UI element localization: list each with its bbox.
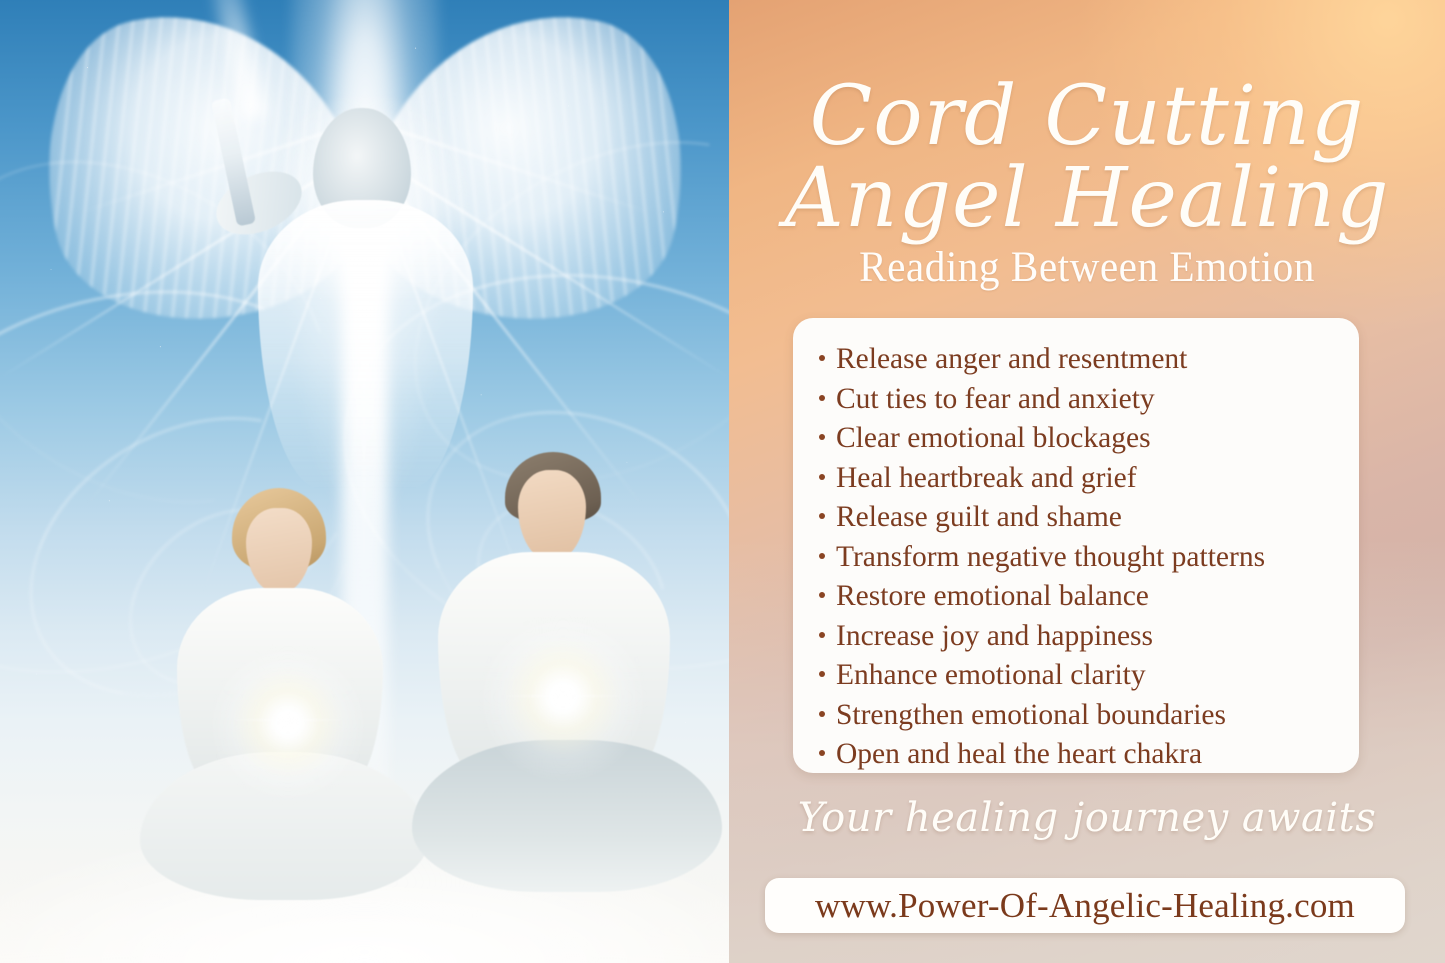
list-item: Increase joy and happiness xyxy=(819,617,1333,657)
list-item: Heal heartbreak and grief xyxy=(819,459,1333,499)
benefit-text: Open and heal the heart chakra xyxy=(836,735,1202,775)
list-item: Restore emotional balance xyxy=(819,577,1333,617)
website-url-bar[interactable]: www.Power-Of-Angelic-Healing.com xyxy=(765,878,1405,933)
promotional-flyer: Cord Cutting Angel Healing Reading Betwe… xyxy=(0,0,1445,963)
list-item: Strengthen emotional boundaries xyxy=(819,696,1333,736)
benefit-text: Transform negative thought patterns xyxy=(836,538,1265,578)
list-item: Release guilt and shame xyxy=(819,498,1333,538)
page-title: Cord Cutting Angel Healing xyxy=(729,77,1445,240)
heart-chakra-light xyxy=(198,706,378,734)
bullet-dot-icon xyxy=(819,513,825,519)
list-item: Enhance emotional clarity xyxy=(819,656,1333,696)
list-item: Cut ties to fear and anxiety xyxy=(819,380,1333,420)
angel-artwork-panel xyxy=(0,0,729,963)
benefit-text: Strengthen emotional boundaries xyxy=(836,696,1226,736)
bullet-dot-icon xyxy=(819,474,825,480)
benefit-text: Cut ties to fear and anxiety xyxy=(836,380,1155,420)
bullet-dot-icon xyxy=(819,553,825,559)
bullet-dot-icon xyxy=(819,434,825,440)
bullet-dot-icon xyxy=(819,711,825,717)
list-item: Open and heal the heart chakra xyxy=(819,735,1333,775)
list-item: Clear emotional blockages xyxy=(819,419,1333,459)
benefit-text: Release guilt and shame xyxy=(836,498,1122,538)
benefits-card: Release anger and resentment Cut ties to… xyxy=(793,318,1359,773)
tagline: Your healing journey awaits xyxy=(729,795,1445,841)
benefit-text: Release anger and resentment xyxy=(836,340,1187,380)
benefit-text: Enhance emotional clarity xyxy=(836,656,1146,696)
benefit-text: Clear emotional blockages xyxy=(836,419,1151,459)
bullet-dot-icon xyxy=(819,632,825,638)
bullet-dot-icon xyxy=(819,750,825,756)
bullet-dot-icon xyxy=(819,395,825,401)
bullet-dot-icon xyxy=(819,592,825,598)
title-line-2: Angel Healing xyxy=(729,159,1445,239)
benefit-text: Heal heartbreak and grief xyxy=(836,459,1137,499)
bullet-dot-icon xyxy=(819,355,825,361)
benefit-text: Restore emotional balance xyxy=(836,577,1149,617)
page-subtitle: Reading Between Emotion xyxy=(743,243,1430,292)
website-url-text[interactable]: www.Power-Of-Angelic-Healing.com xyxy=(815,886,1355,926)
list-item: Transform negative thought patterns xyxy=(819,538,1333,578)
benefits-list: Release anger and resentment Cut ties to… xyxy=(819,340,1333,775)
title-line-1: Cord Cutting xyxy=(729,77,1445,157)
info-panel: Cord Cutting Angel Healing Reading Betwe… xyxy=(729,0,1445,963)
bullet-dot-icon xyxy=(819,671,825,677)
heart-chakra-light xyxy=(468,681,658,711)
list-item: Release anger and resentment xyxy=(819,340,1333,380)
angel-figure xyxy=(258,200,473,490)
benefit-text: Increase joy and happiness xyxy=(836,617,1153,657)
